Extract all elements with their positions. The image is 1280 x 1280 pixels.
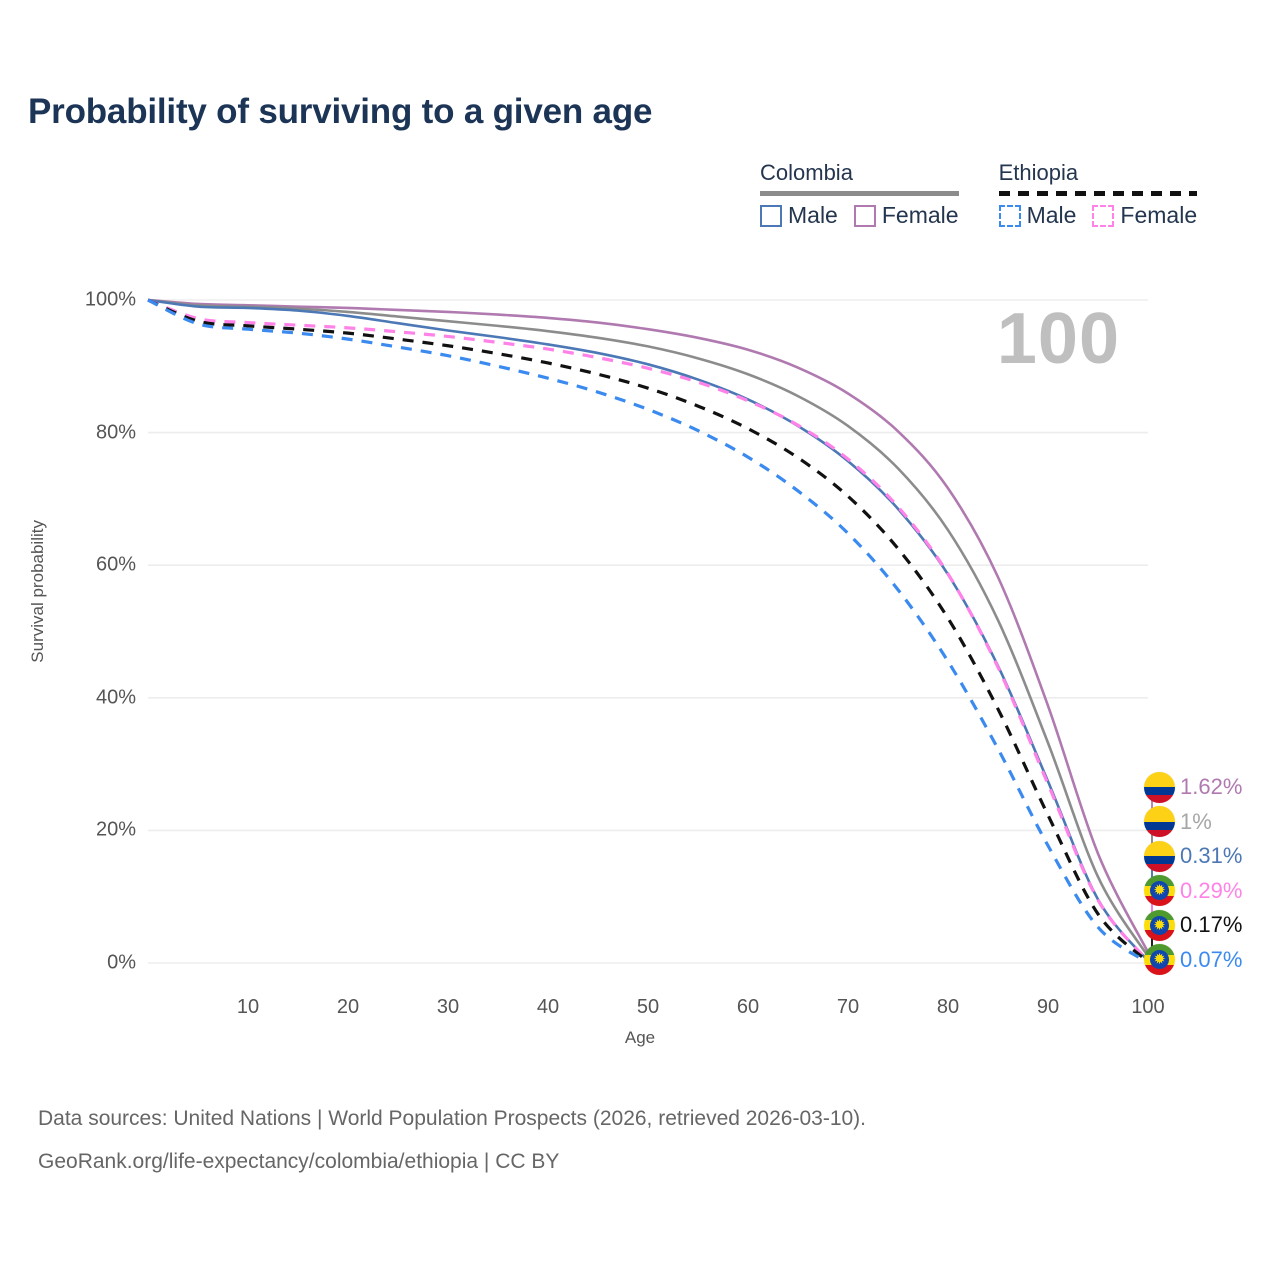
legend-swatch-ethiopia-male	[999, 205, 1021, 227]
x-axis-tick-label: 100	[1131, 996, 1164, 1019]
x-axis-tick-label: 20	[337, 996, 359, 1019]
legend-rule-colombia	[760, 191, 959, 196]
colombia-flag-icon	[1144, 806, 1175, 837]
series-line	[148, 300, 1148, 961]
x-axis-tick-label: 90	[1037, 996, 1059, 1019]
y-axis-tick-label: 20%	[44, 819, 136, 842]
series-end-value: 0.29%	[1180, 878, 1242, 904]
series-line	[148, 300, 1148, 952]
x-axis-tick-label: 50	[637, 996, 659, 1019]
series-end-label: 0.31%	[1144, 839, 1242, 874]
legend-country-ethiopia: Ethiopia	[999, 160, 1198, 191]
footer-line-2: GeoRank.org/life-expectancy/colombia/eth…	[38, 1150, 559, 1174]
legend-swatch-ethiopia-female	[1092, 205, 1114, 227]
legend-item-colombia-male[interactable]: Male	[760, 202, 838, 229]
ethiopia-flag-icon: ✹	[1144, 944, 1175, 975]
legend-swatch-colombia-female	[854, 205, 876, 227]
legend-group-ethiopia: Ethiopia Male Female	[999, 160, 1198, 229]
series-end-label: ✹0.07%	[1144, 943, 1242, 978]
x-axis-tick-label: 80	[937, 996, 959, 1019]
legend-group-colombia: Colombia Male Female	[760, 160, 959, 229]
x-axis-tick-label: 30	[437, 996, 459, 1019]
y-axis-tick-label: 40%	[44, 686, 136, 709]
series-end-label: 1.62%	[1144, 770, 1242, 805]
y-axis-tick-label: 100%	[44, 289, 136, 312]
chart-legend: Colombia Male Female Ethiopia Male	[760, 160, 1197, 229]
legend-country-colombia: Colombia	[760, 160, 959, 191]
x-axis-label: Age	[0, 1028, 1280, 1048]
y-axis-tick-label: 80%	[44, 421, 136, 444]
series-end-label: 1%	[1144, 805, 1242, 840]
series-end-labels: 1.62%1%0.31%✹0.29%✹0.17%✹0.07%	[1144, 770, 1242, 977]
legend-rule-ethiopia	[999, 191, 1198, 196]
series-line	[148, 300, 1148, 956]
x-axis-tick-label: 40	[537, 996, 559, 1019]
footer-line-1: Data sources: United Nations | World Pop…	[38, 1107, 866, 1131]
y-axis-tick-label: 60%	[44, 554, 136, 577]
colombia-flag-icon	[1144, 841, 1175, 872]
series-line	[148, 300, 1148, 961]
series-end-label: ✹0.17%	[1144, 908, 1242, 943]
series-end-value: 0.07%	[1180, 947, 1242, 973]
series-end-value: 0.31%	[1180, 843, 1242, 869]
series-line	[148, 300, 1148, 962]
legend-item-ethiopia-male[interactable]: Male	[999, 202, 1077, 229]
colombia-flag-icon	[1144, 772, 1175, 803]
series-end-value: 1%	[1180, 809, 1212, 835]
legend-label-colombia-male: Male	[788, 202, 838, 229]
legend-item-colombia-female[interactable]: Female	[854, 202, 959, 229]
legend-swatch-colombia-male	[760, 205, 782, 227]
series-end-value: 1.62%	[1180, 774, 1242, 800]
legend-label-ethiopia-male: Male	[1027, 202, 1077, 229]
x-axis-tick-label: 70	[837, 996, 859, 1019]
ethiopia-flag-icon: ✹	[1144, 910, 1175, 941]
y-axis-tick-label: 0%	[44, 952, 136, 975]
ethiopia-flag-icon: ✹	[1144, 875, 1175, 906]
x-axis-tick-label: 10	[237, 996, 259, 1019]
series-end-value: 0.17%	[1180, 912, 1242, 938]
series-line	[148, 300, 1148, 963]
y-axis-label: Survival probability	[28, 520, 48, 663]
x-axis-tick-label: 60	[737, 996, 759, 1019]
series-end-label: ✹0.29%	[1144, 874, 1242, 909]
page-title: Probability of surviving to a given age	[28, 92, 652, 132]
legend-label-colombia-female: Female	[882, 202, 959, 229]
legend-label-ethiopia-female: Female	[1120, 202, 1197, 229]
watermark-100: 100	[997, 298, 1120, 380]
legend-item-ethiopia-female[interactable]: Female	[1092, 202, 1197, 229]
